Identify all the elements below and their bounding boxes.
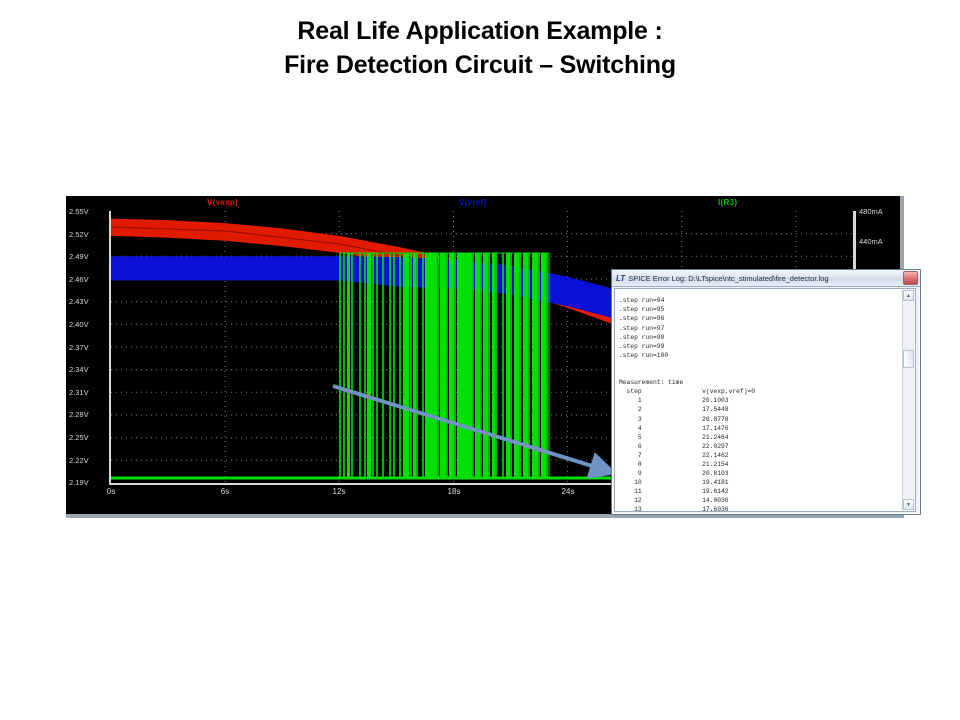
- y-tick-left: 2.49V: [69, 252, 89, 261]
- log-text-area[interactable]: .step run=94 .step run=95 .step run=96 .…: [614, 288, 916, 512]
- log-content: .step run=94 .step run=95 .step run=96 .…: [619, 296, 899, 512]
- log-window-title: SPICE Error Log: D:\LTspice\ntc_stimulat…: [628, 274, 828, 283]
- y-tick-left: 2.43V: [69, 297, 89, 306]
- log-window-titlebar[interactable]: LT SPICE Error Log: D:\LTspice\ntc_stimu…: [612, 270, 920, 287]
- y-tick-left: 2.40V: [69, 320, 89, 329]
- trace-label-ir3[interactable]: I(R3): [718, 198, 737, 207]
- y-tick-right: 440mA: [859, 237, 883, 246]
- y-tick-left: 2.22V: [69, 456, 89, 465]
- y-tick-left: 2.37V: [69, 343, 89, 352]
- close-icon[interactable]: [903, 271, 918, 285]
- y-tick-left: 2.25V: [69, 433, 89, 442]
- trace-label-vref[interactable]: V(vref): [459, 198, 486, 207]
- page-title-line-1: Real Life Application Example :: [0, 14, 960, 48]
- y-tick-left: 2.34V: [69, 365, 89, 374]
- x-tick: 0s: [107, 487, 115, 496]
- scroll-up-icon[interactable]: ▲: [903, 290, 914, 301]
- x-tick: 6s: [221, 487, 229, 496]
- annotation-arrow: [330, 380, 620, 490]
- y-tick-left: 2.31V: [69, 388, 89, 397]
- log-vertical-scrollbar[interactable]: ▲ ▼: [902, 290, 914, 510]
- y-tick-right: 480mA: [859, 207, 883, 216]
- trace-label-vexp[interactable]: V(vexp): [207, 198, 238, 207]
- y-tick-left: 2.19V: [69, 478, 89, 487]
- scroll-down-icon[interactable]: ▼: [903, 499, 914, 510]
- ltspice-icon: LT: [616, 274, 625, 283]
- window-controls[interactable]: [903, 271, 918, 285]
- y-tick-left: 2.55V: [69, 207, 89, 216]
- y-tick-left: 2.52V: [69, 230, 89, 239]
- page-title-line-2: Fire Detection Circuit – Switching: [0, 48, 960, 82]
- spice-error-log-window[interactable]: LT SPICE Error Log: D:\LTspice\ntc_stimu…: [611, 269, 921, 515]
- scrollbar-thumb[interactable]: [903, 350, 914, 368]
- page-title: Real Life Application Example : Fire Det…: [0, 14, 960, 82]
- y-tick-left: 2.46V: [69, 275, 89, 284]
- y-tick-left: 2.28V: [69, 410, 89, 419]
